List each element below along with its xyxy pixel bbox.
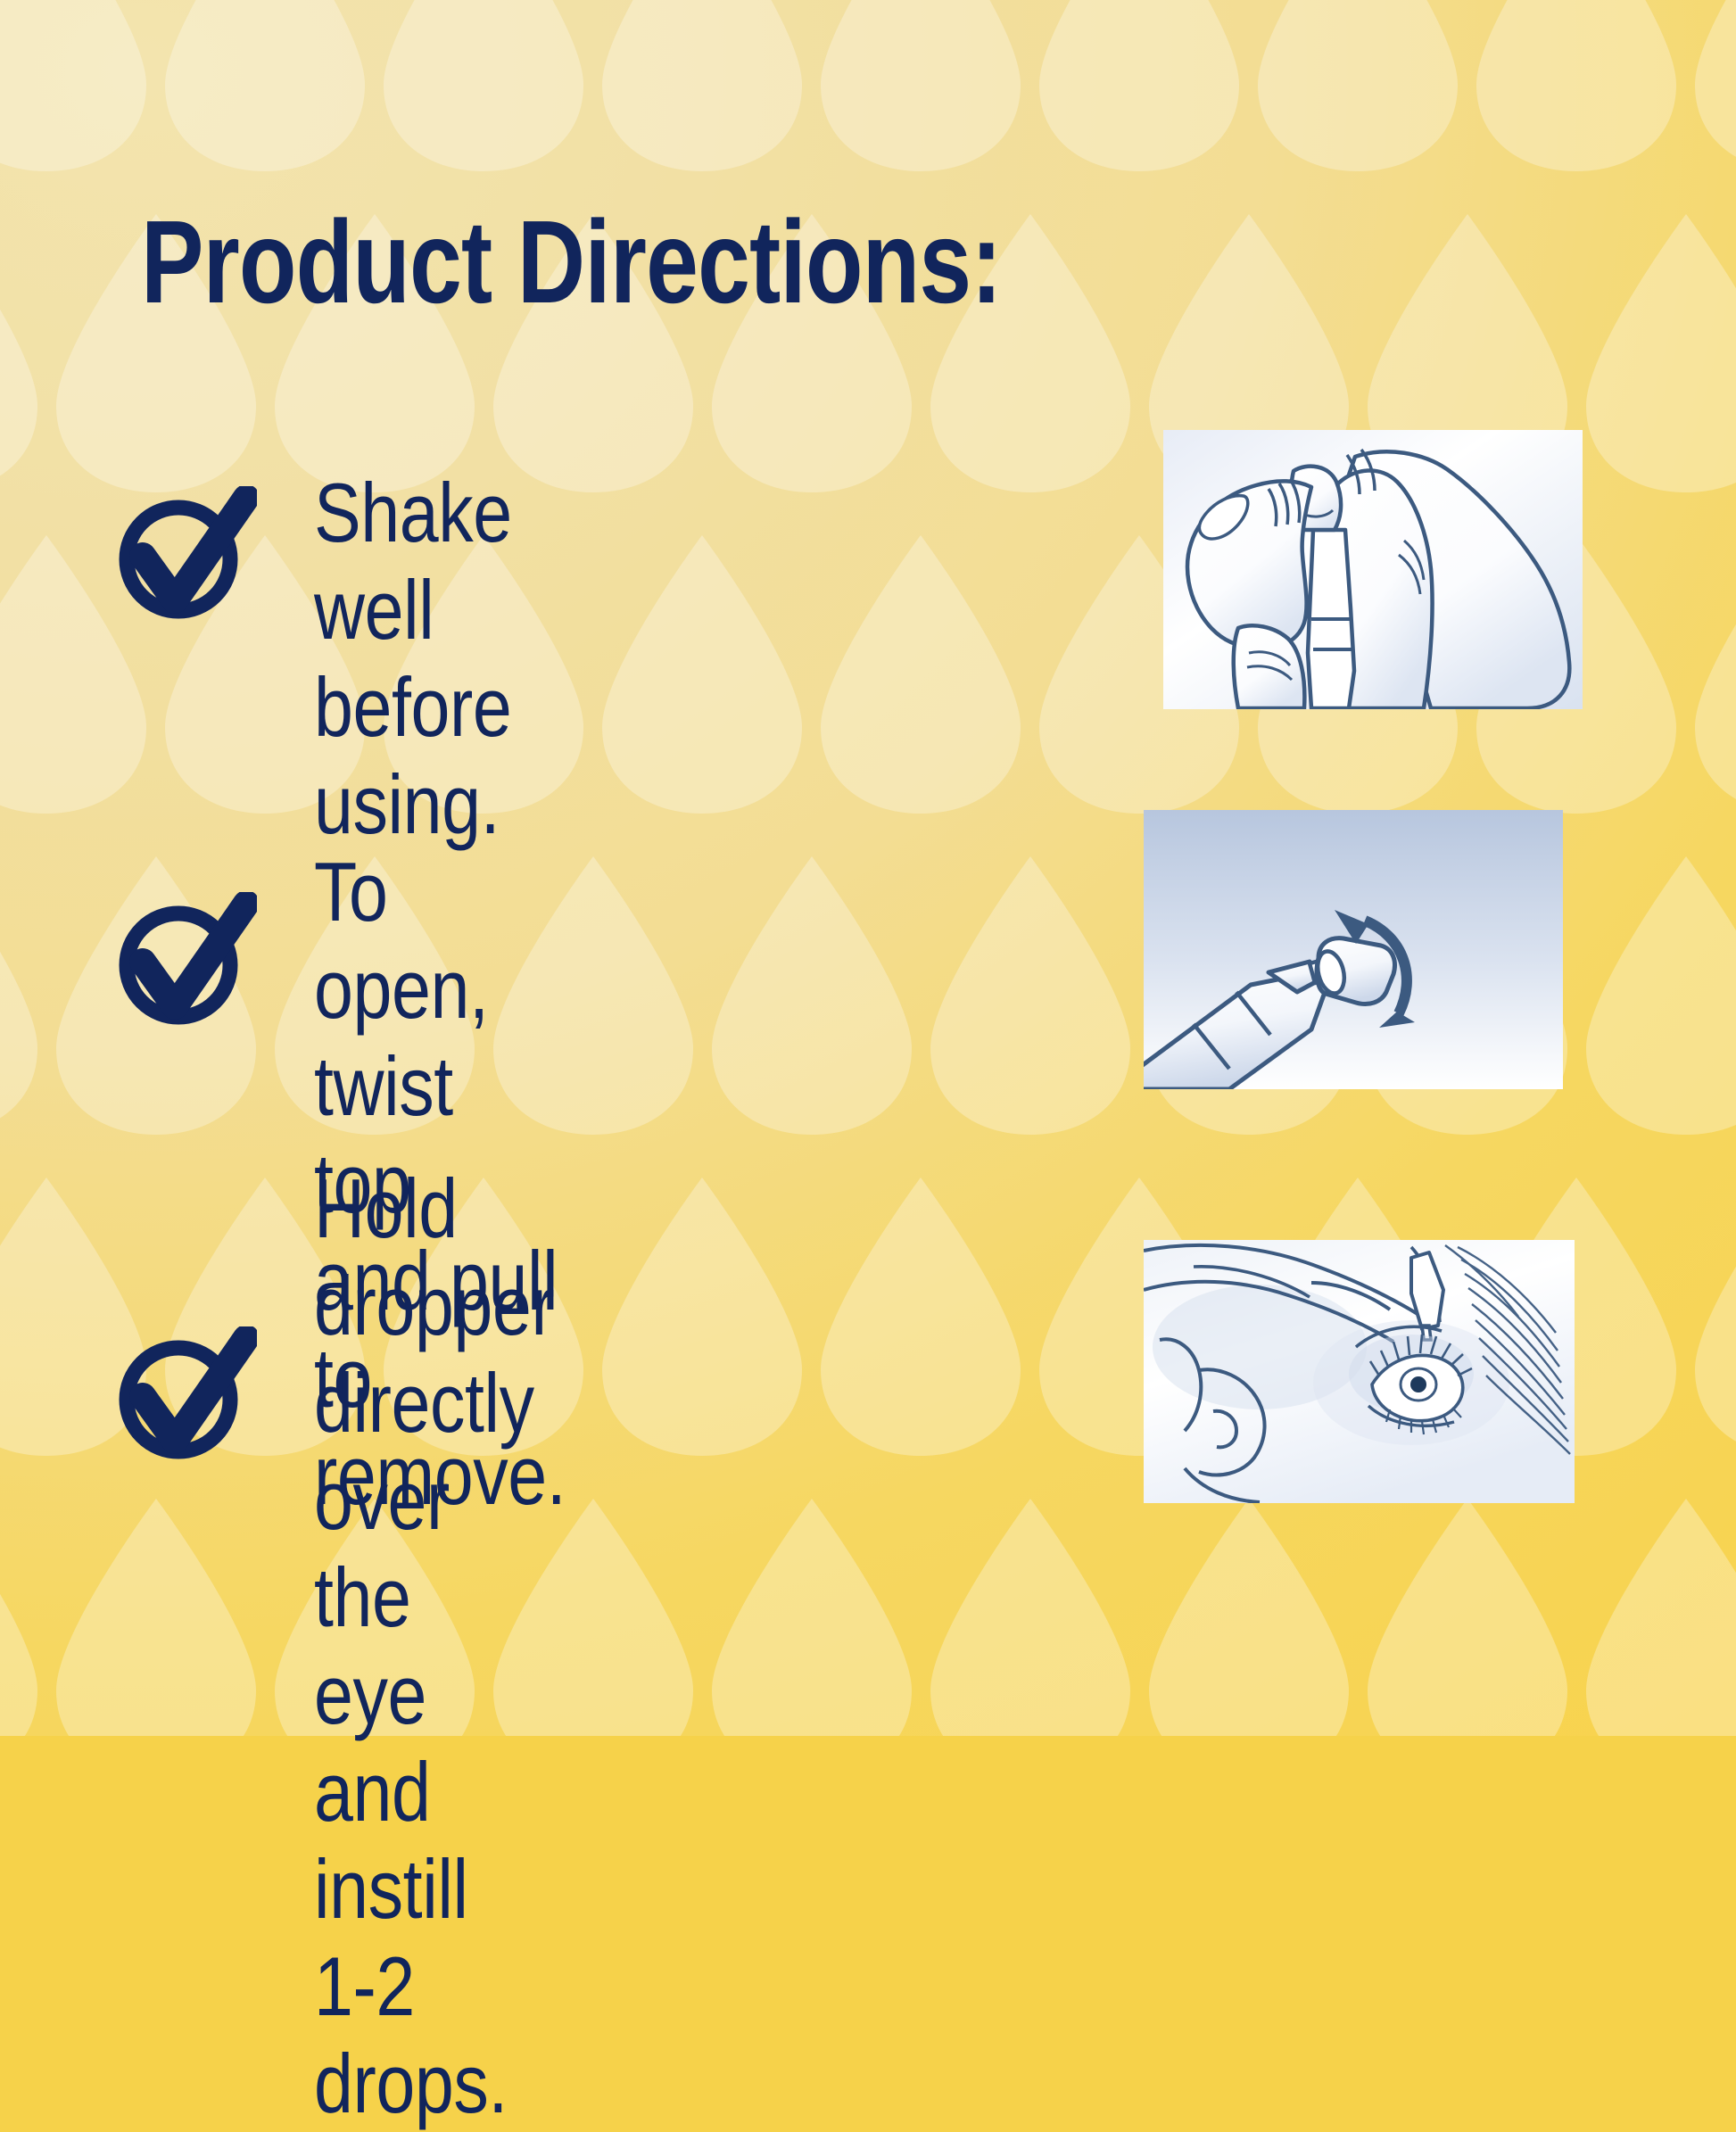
list-item-label: Shake well before using. [314, 464, 512, 853]
hand-shaking-bottle-illustration [1163, 430, 1583, 709]
list-item-label: Hold dropper directly over the eye and i… [314, 1160, 554, 2132]
check-circle-icon [114, 486, 257, 620]
directions-card: Product Directions: Shake well before us… [0, 0, 1736, 1736]
check-circle-icon [114, 892, 257, 1026]
dropper-over-eye-illustration [1144, 1240, 1575, 1503]
check-circle-icon [114, 1326, 257, 1460]
bottle-cap-twist-arrow-illustration [1144, 810, 1563, 1089]
steps-list: Shake well before using. [0, 0, 1736, 1736]
